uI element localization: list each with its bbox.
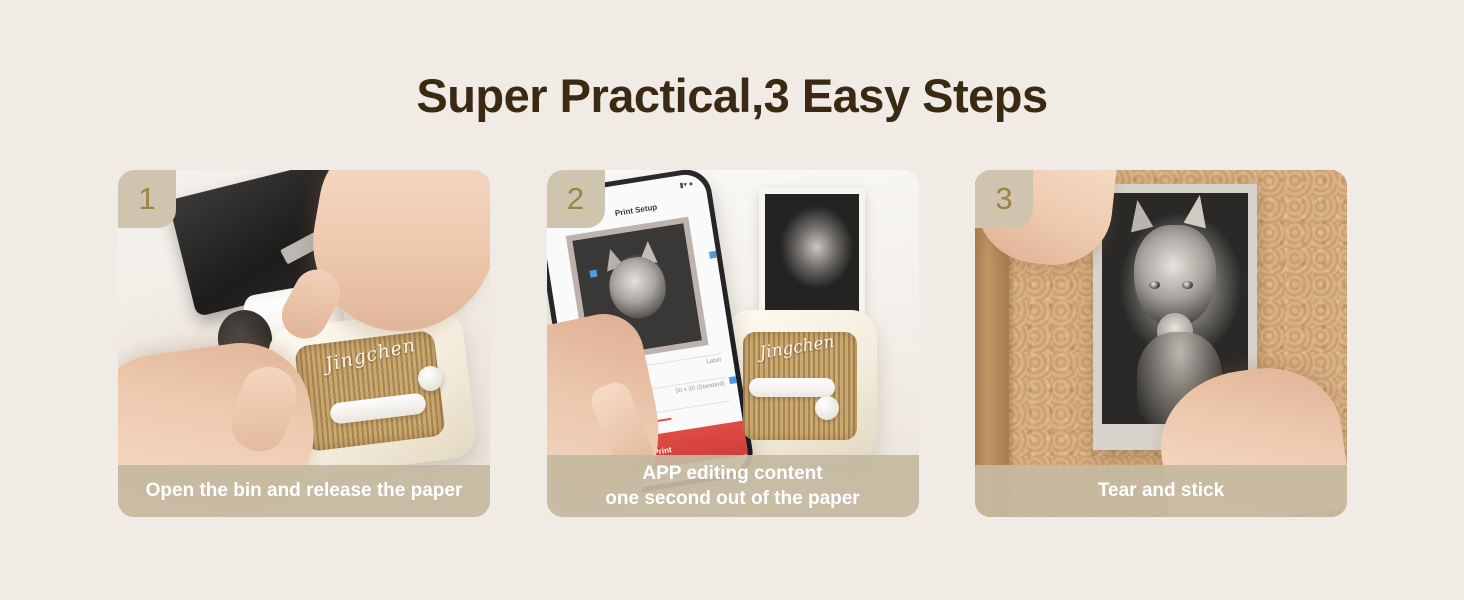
setting-row-1-value[interactable]: Label [706,357,721,365]
nav-spacer [696,196,699,203]
step-caption-2: APP editing content one second out of th… [547,455,919,517]
crop-handle-br[interactable] [728,376,736,384]
printed-label-output [759,188,865,318]
caption-line: Open the bin and release the paper [146,480,463,502]
step-caption-1: Open the bin and release the paper [118,465,490,517]
step-card-3[interactable]: 3 Tear and stick [975,170,1347,517]
step-badge-1: 1 [118,170,176,228]
cat-ear-left [1124,198,1154,233]
power-button-icon [418,366,443,391]
caption-line: Tear and stick [1098,480,1224,502]
cat-ear-right [1183,193,1213,229]
crop-handle-tl[interactable] [589,270,597,278]
printed-cat-image [765,194,859,312]
step-badge-2: 2 [547,170,605,228]
cat-eye-left [1149,281,1160,289]
infographic-page: Super Practical,3 Easy Steps Jingchen [0,0,1464,600]
step-badge-3: 3 [975,170,1033,228]
caption-line: APP editing content [642,461,822,486]
step-caption-3: Tear and stick [975,465,1347,517]
page-title: Super Practical,3 Easy Steps [0,68,1464,123]
power-button-icon [815,396,839,420]
cat-eye-right [1182,281,1193,289]
step-card-2[interactable]: Jingchen 17:29 ▮▾ ● Preview Print Setup [547,170,919,517]
step-card-1[interactable]: Jingchen 1 Open the bin and release the … [118,170,490,517]
caption-line: one second out of the paper [605,486,859,511]
printer-control-strip [749,378,835,397]
crop-handle-tr[interactable] [708,251,716,259]
cat-head [1134,225,1216,327]
steps-row: Jingchen 1 Open the bin and release the … [118,170,1347,517]
app-nav-title: Print Setup [614,202,658,218]
status-icons: ▮▾ ● [679,180,694,190]
